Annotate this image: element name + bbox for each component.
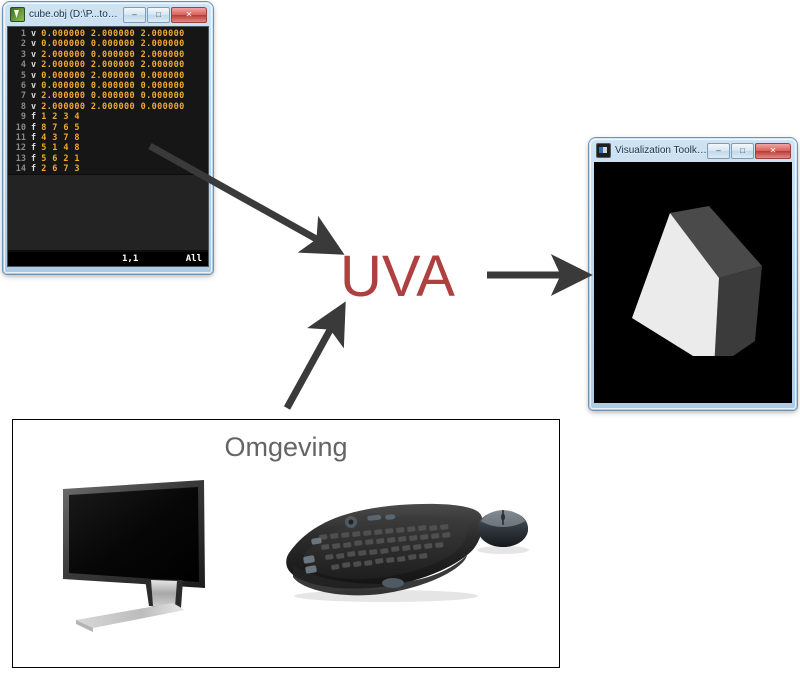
arrow-env-to-uva xyxy=(275,300,355,414)
minimize-icon: – xyxy=(716,147,720,155)
obj-values: 8 7 6 5 xyxy=(41,123,80,133)
obj-values: 0.000000 0.000000 2.000000 xyxy=(41,39,184,49)
line-number: 8 xyxy=(8,102,31,112)
obj-keyword: f xyxy=(31,143,41,153)
cube-3d xyxy=(612,196,762,356)
vtk-window[interactable]: Visualization Toolkit - Win32Open... – □… xyxy=(589,138,797,410)
obj-keyword: f xyxy=(31,112,41,122)
line-number: 4 xyxy=(8,60,31,70)
code-line: 1v 0.000000 2.000000 2.000000 xyxy=(8,29,208,39)
obj-keyword: v xyxy=(31,29,41,39)
obj-keyword: v xyxy=(31,39,41,49)
mouse-shape xyxy=(478,510,528,547)
close-button[interactable]: ✕ xyxy=(171,7,207,23)
close-icon: ✕ xyxy=(770,147,777,155)
gvim-window-controls[interactable]: – □ ✕ xyxy=(123,7,207,23)
code-line: 5v 0.000000 2.000000 0.000000 xyxy=(8,71,208,81)
obj-keyword: v xyxy=(31,81,41,91)
vtk-icon xyxy=(596,143,611,158)
minimize-button[interactable]: – xyxy=(707,143,730,159)
obj-keyword: v xyxy=(31,60,41,70)
code-line: 9f 1 2 3 4 xyxy=(8,112,208,122)
line-number: 7 xyxy=(8,91,31,101)
uva-label: UVA xyxy=(340,243,455,310)
obj-values: 4 3 7 8 xyxy=(41,133,80,143)
line-number: 13 xyxy=(8,154,31,164)
code-line: 2v 0.000000 0.000000 2.000000 xyxy=(8,39,208,49)
close-icon: ✕ xyxy=(186,11,193,19)
obj-keyword: v xyxy=(31,71,41,81)
code-line: 10f 8 7 6 5 xyxy=(8,123,208,133)
omgeving-panel: Omgeving xyxy=(12,419,560,668)
line-number: 2 xyxy=(8,39,31,49)
obj-keyword: v xyxy=(31,91,41,101)
maximize-icon: □ xyxy=(740,147,745,155)
arrow-uva-to-vtk xyxy=(485,262,595,288)
obj-values: 0.000000 2.000000 2.000000 xyxy=(41,29,184,39)
line-number: 9 xyxy=(8,112,31,122)
line-number: 3 xyxy=(8,50,31,60)
vtk-render-canvas[interactable] xyxy=(594,162,792,403)
maximize-button[interactable]: □ xyxy=(147,7,170,23)
maximize-icon: □ xyxy=(156,11,161,19)
line-number: 5 xyxy=(8,71,31,81)
keyboard-image xyxy=(281,495,536,605)
line-number: 12 xyxy=(8,143,31,153)
obj-values: 2.000000 2.000000 2.000000 xyxy=(41,60,184,70)
obj-values: 0.000000 0.000000 0.000000 xyxy=(41,81,184,91)
line-number: 6 xyxy=(8,81,31,91)
gvim-title-text: cube.obj (D:\P...touch\src) - GVIM xyxy=(29,9,123,20)
obj-keyword: v xyxy=(31,50,41,60)
maximize-button[interactable]: □ xyxy=(731,143,754,159)
omgeving-title: Omgeving xyxy=(13,432,559,463)
code-line: 3v 2.000000 0.000000 2.000000 xyxy=(8,50,208,60)
obj-values: 1 2 3 4 xyxy=(41,112,80,122)
obj-keyword: v xyxy=(31,102,41,112)
vtk-title-text: Visualization Toolkit - Win32Open... xyxy=(615,145,707,156)
code-line: 8v 2.000000 2.000000 0.000000 xyxy=(8,102,208,112)
obj-keyword: f xyxy=(31,164,41,174)
arrow-vim-to-uva xyxy=(145,138,345,263)
gvim-titlebar[interactable]: cube.obj (D:\P...touch\src) - GVIM – □ ✕ xyxy=(7,5,209,24)
minimize-icon: – xyxy=(132,11,136,19)
close-button[interactable]: ✕ xyxy=(755,143,791,159)
obj-values: 5 1 4 8 xyxy=(41,143,80,153)
obj-values: 2.000000 0.000000 2.000000 xyxy=(41,50,184,60)
obj-values: 2.000000 2.000000 0.000000 xyxy=(41,102,184,112)
line-number: 11 xyxy=(8,133,31,143)
obj-keyword: f xyxy=(31,123,41,133)
code-line: 6v 0.000000 0.000000 0.000000 xyxy=(8,81,208,91)
cursor-position: 1,1 xyxy=(122,252,138,266)
gvim-icon xyxy=(10,7,25,22)
obj-values: 0.000000 2.000000 0.000000 xyxy=(41,71,184,81)
obj-values: 2.000000 0.000000 0.000000 xyxy=(41,91,184,101)
code-line: 4v 2.000000 2.000000 2.000000 xyxy=(8,60,208,70)
obj-keyword: f xyxy=(31,154,41,164)
code-line: 7v 2.000000 0.000000 0.000000 xyxy=(8,91,208,101)
minimize-button[interactable]: – xyxy=(123,7,146,23)
vtk-window-controls[interactable]: – □ ✕ xyxy=(707,143,791,159)
obj-values: 5 6 2 1 xyxy=(41,154,80,164)
line-number: 10 xyxy=(8,123,31,133)
monitor-image xyxy=(41,476,241,636)
line-number: 14 xyxy=(8,164,31,174)
line-number: 1 xyxy=(8,29,31,39)
obj-keyword: f xyxy=(31,133,41,143)
vtk-titlebar[interactable]: Visualization Toolkit - Win32Open... – □… xyxy=(593,141,793,160)
obj-values: 2 6 7 3 xyxy=(41,164,80,174)
